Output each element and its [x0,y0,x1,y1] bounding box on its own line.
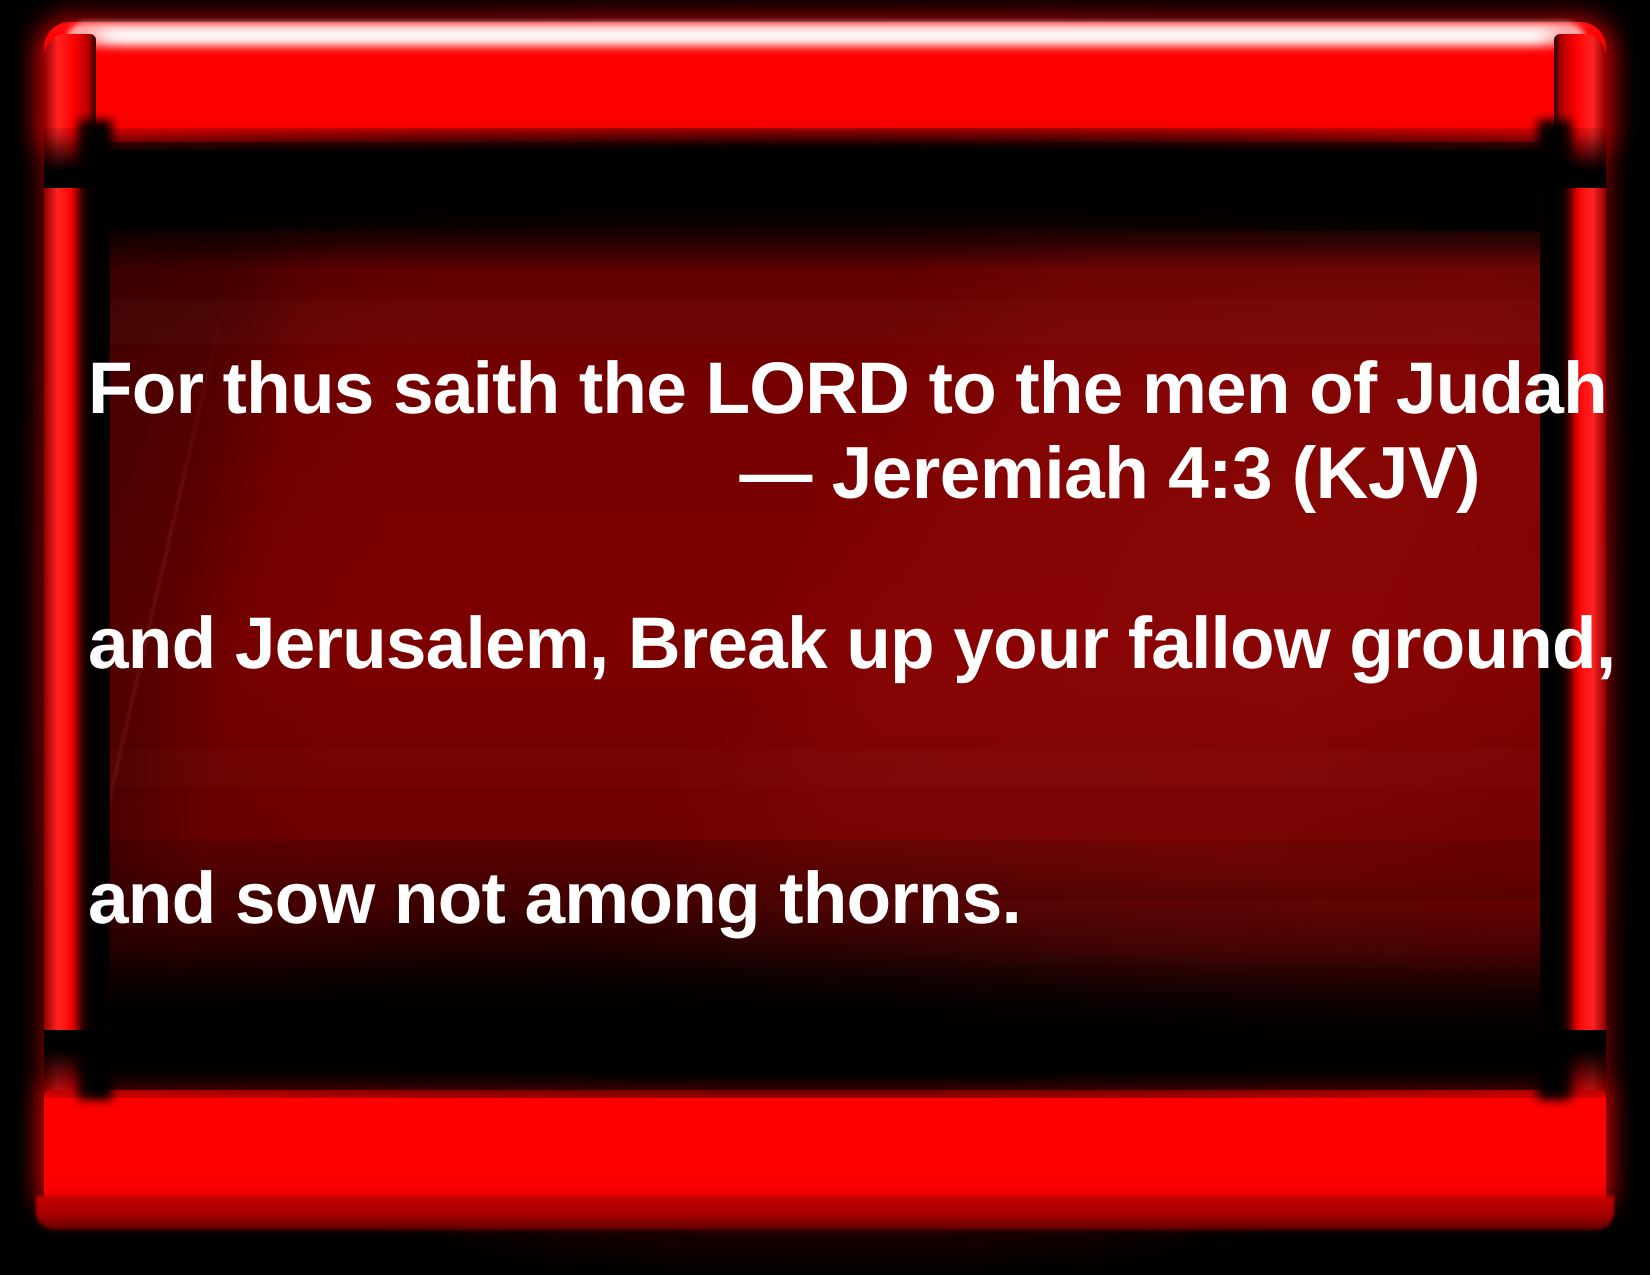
verse-attribution: — Jeremiah 4:3 (KJV) [88,431,1480,516]
verse-text: For thus saith the LORD to the men of Ju… [88,176,1508,1111]
bible-verse-slide: For thus saith the LORD to the men of Ju… [0,0,1650,1275]
verse-line-2: and Jerusalem, Break up your fallow grou… [88,601,1508,686]
verse-line-3: and sow not among thorns. [88,856,1508,941]
verse-line-1: For thus saith the LORD to the men of Ju… [88,346,1508,431]
frame-top-specular-highlight [66,22,1586,52]
frame-bottom-lip [36,1196,1614,1230]
